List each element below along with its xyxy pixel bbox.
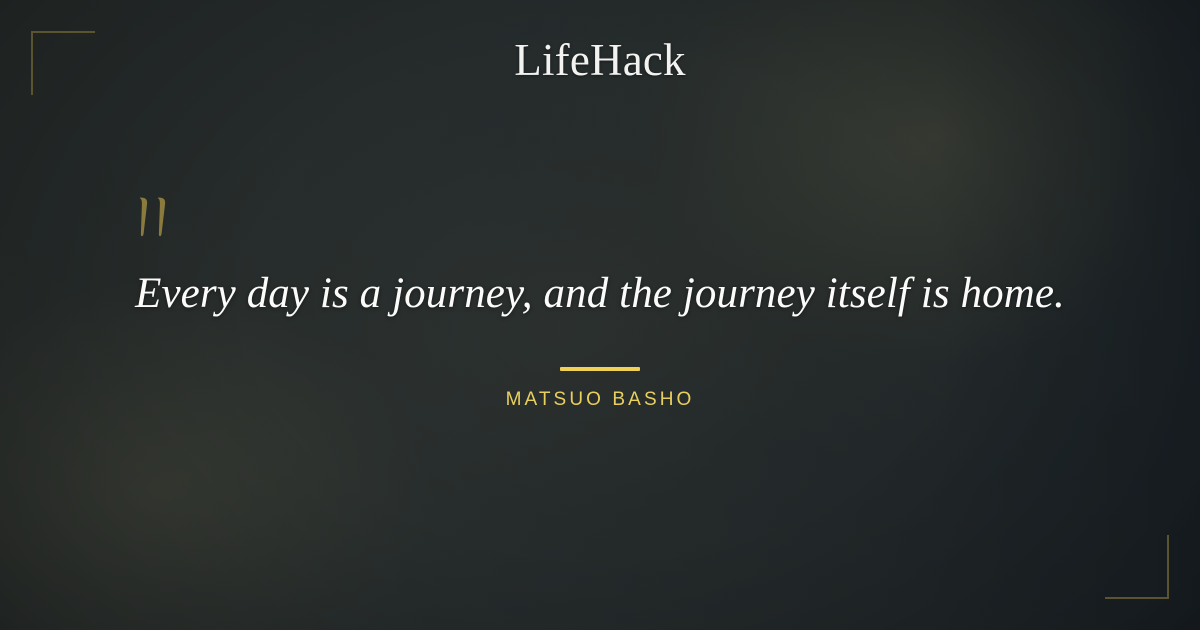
divider-rule	[560, 367, 640, 371]
double-quote-icon	[134, 196, 178, 242]
corner-bracket-bottom-right-icon	[1105, 535, 1169, 599]
quote-attribution: MATSUO BASHO	[0, 389, 1200, 411]
quote-card: LifeHack Every day is a journey, and the…	[0, 0, 1200, 630]
divider-container	[0, 358, 1200, 376]
quote-text: Every day is a journey, and the journey …	[60, 268, 1140, 320]
lifehack-logo: LifeHack	[0, 38, 1200, 83]
